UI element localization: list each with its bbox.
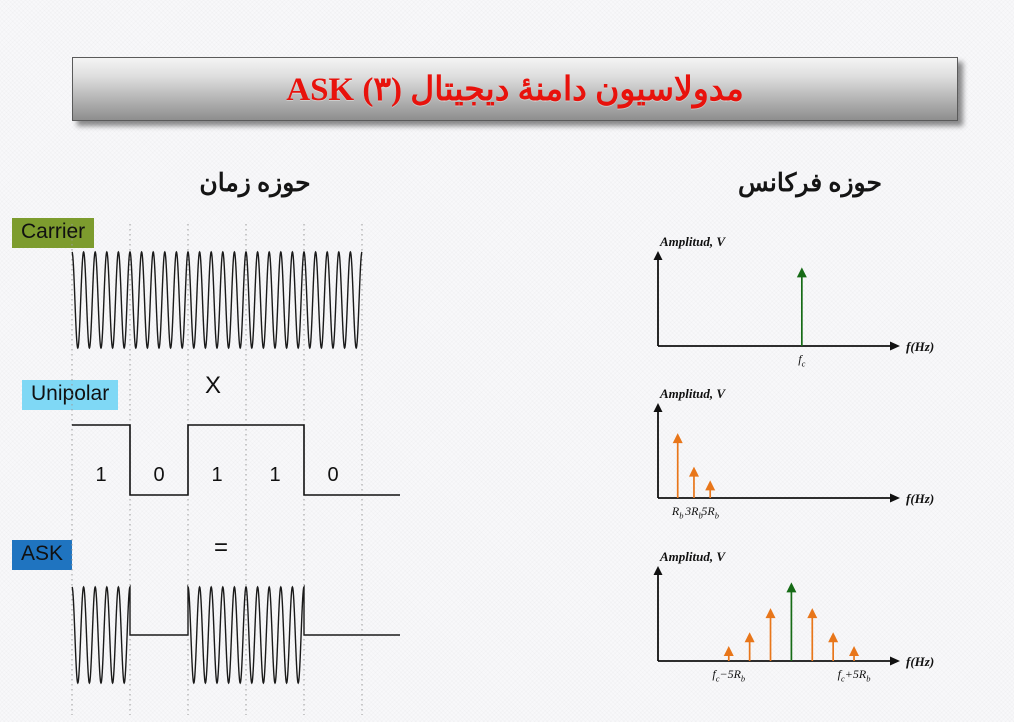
spectral-line-arrowhead	[807, 608, 817, 618]
y-axis-label: Amplitud, V	[659, 234, 726, 249]
bit-label: 0	[153, 464, 164, 486]
spectral-line-arrowhead	[828, 632, 838, 642]
time-domain-heading: حوزه زمان	[140, 168, 370, 198]
bit-label: 1	[211, 464, 222, 486]
x-tick-label: fc−5Rb	[712, 667, 745, 684]
x-tick-label: fc	[798, 352, 805, 369]
spectral-line-arrowhead	[849, 646, 859, 656]
ask-waveform	[72, 587, 400, 683]
spectral-line-arrowhead	[745, 632, 755, 642]
page-title: مدولاسیون دامنهٔ دیجیتال ASK (۳)	[286, 69, 744, 109]
carrier-spectrum: Amplitud, Vf(Hz)fc	[630, 228, 990, 378]
x-tick-label: 5Rb	[701, 504, 719, 521]
carrier-waveform	[72, 252, 362, 348]
x-axis-arrowhead	[890, 494, 900, 503]
y-axis-label: Amplitud, V	[659, 549, 726, 564]
unipolar-waveform	[72, 425, 400, 495]
spectral-line-arrowhead	[766, 608, 776, 618]
spectral-line-arrowhead	[786, 582, 796, 592]
x-axis-arrowhead	[890, 342, 900, 351]
baseband-spectrum: Amplitud, Vf(Hz)Rb3Rb5Rb	[630, 385, 990, 530]
spectral-line-arrowhead	[673, 433, 683, 443]
bit-label: 1	[95, 464, 106, 486]
title-banner: مدولاسیون دامنهٔ دیجیتال ASK (۳)	[72, 57, 958, 121]
y-axis-arrowhead	[654, 251, 663, 260]
x-axis-arrowhead	[890, 657, 900, 666]
spectral-line-arrowhead	[797, 267, 807, 277]
ask-spectrum: Amplitud, Vf(Hz)fc−5Rbfc+5Rb	[630, 548, 990, 693]
spectral-line-arrowhead	[705, 480, 715, 490]
x-axis-label: f(Hz)	[906, 654, 934, 669]
time-domain-diagram: 10110	[0, 210, 420, 722]
bit-label: 0	[327, 464, 338, 486]
x-tick-label: 3Rb	[684, 504, 703, 521]
frequency-domain-heading: حوزه فرکانس	[680, 168, 940, 198]
y-axis-arrowhead	[654, 566, 663, 575]
x-tick-label: fc+5Rb	[838, 667, 871, 684]
x-tick-label: Rb	[671, 504, 684, 521]
bit-labels: 10110	[95, 464, 338, 486]
x-axis-label: f(Hz)	[906, 339, 934, 354]
spectral-line-arrowhead	[689, 467, 699, 477]
x-axis-label: f(Hz)	[906, 491, 934, 506]
y-axis-arrowhead	[654, 403, 663, 412]
bit-label: 1	[269, 464, 280, 486]
y-axis-label: Amplitud, V	[659, 386, 726, 401]
spectral-line-arrowhead	[724, 646, 734, 656]
